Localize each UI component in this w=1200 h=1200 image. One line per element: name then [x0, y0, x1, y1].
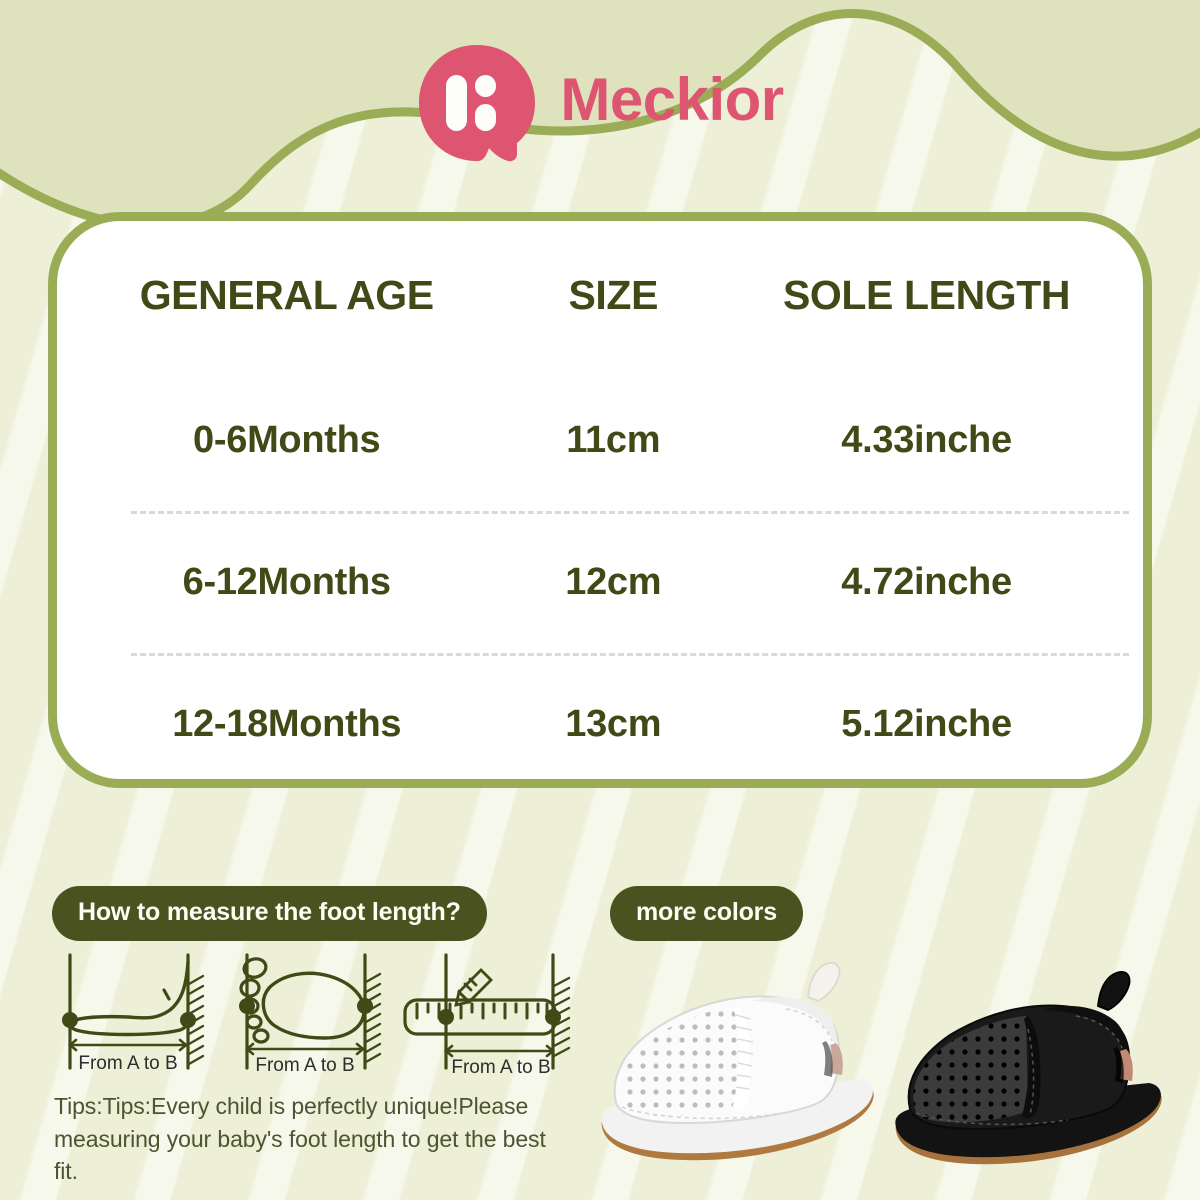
- size-chart-card: GENERAL AGE SIZE SOLE LENGTH 0-6Months 1…: [48, 212, 1152, 788]
- cell-general-age: 0-6Months: [69, 419, 504, 462]
- diagram-caption: From A to B: [255, 1055, 354, 1075]
- table-row: 12-18Months 13cm 5.12inche: [69, 653, 1131, 795]
- table-row: 6-12Months 12cm 4.72inche: [69, 511, 1131, 653]
- meckior-m-bubble-logo-icon: [416, 42, 538, 164]
- table-header-row: GENERAL AGE SIZE SOLE LENGTH: [69, 221, 1131, 369]
- diagram-caption: From A to B: [452, 1057, 551, 1075]
- column-header-general-age: GENERAL AGE: [69, 272, 504, 319]
- cell-general-age: 12-18Months: [69, 703, 504, 746]
- cell-sole-length: 5.12inche: [722, 703, 1131, 746]
- cell-size: 13cm: [504, 703, 722, 746]
- ruler-pencil-icon: From A to B: [401, 950, 578, 1075]
- foot-side-view-icon: From A to B: [48, 950, 225, 1075]
- cell-size: 12cm: [504, 561, 722, 604]
- cell-sole-length: 4.33inche: [722, 419, 1131, 462]
- cell-size: 11cm: [504, 419, 722, 462]
- how-to-measure-badge: How to measure the foot length?: [52, 886, 487, 941]
- baby-slip-on-shoe-black-icon[interactable]: [882, 969, 1192, 1179]
- baby-slip-on-shoe-white-icon[interactable]: [586, 957, 906, 1177]
- measure-diagrams: From A to B: [48, 950, 578, 1075]
- brand-header: Meckior: [0, 42, 1200, 164]
- footprint-top-view-icon: From A to B: [225, 950, 402, 1075]
- color-swatch-gallery: [586, 945, 1186, 1180]
- cell-sole-length: 4.72inche: [722, 561, 1131, 604]
- column-header-sole-length: SOLE LENGTH: [722, 272, 1131, 319]
- brand-name: Meckior: [560, 70, 783, 136]
- measure-tips-text: Tips:Tips:Every child is perfectly uniqu…: [54, 1090, 574, 1188]
- more-colors-badge: more colors: [610, 886, 803, 941]
- column-header-size: SIZE: [504, 272, 722, 319]
- cell-general-age: 6-12Months: [69, 561, 504, 604]
- size-table: GENERAL AGE SIZE SOLE LENGTH 0-6Months 1…: [57, 221, 1143, 779]
- diagram-caption: From A to B: [78, 1053, 177, 1074]
- table-row: 0-6Months 11cm 4.33inche: [69, 369, 1131, 511]
